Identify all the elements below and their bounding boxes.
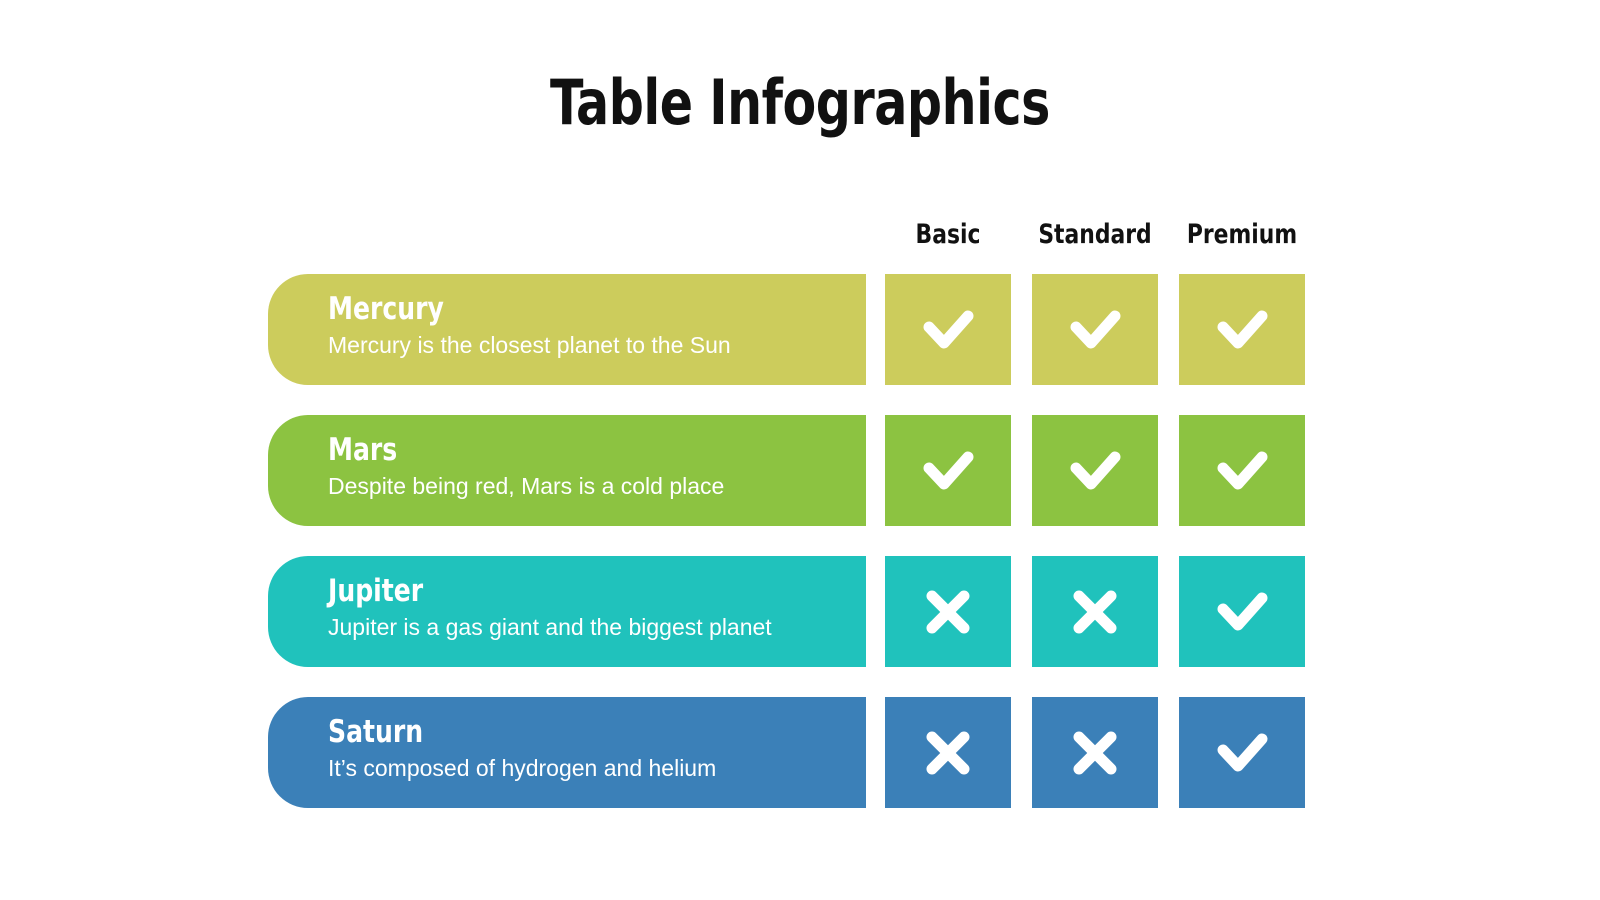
row-label-bar[interactable]: MarsDespite being red, Mars is a cold pl… bbox=[268, 415, 866, 526]
cell-premium[interactable] bbox=[1179, 415, 1305, 526]
column-header-standard: Standard bbox=[1038, 218, 1151, 252]
cell-premium[interactable] bbox=[1179, 274, 1305, 385]
cross-icon bbox=[916, 580, 980, 644]
row-label-bar[interactable]: MercuryMercury is the closest planet to … bbox=[268, 274, 866, 385]
cell-premium[interactable] bbox=[1179, 556, 1305, 667]
check-icon bbox=[1210, 580, 1274, 644]
cell-basic[interactable] bbox=[885, 274, 1011, 385]
column-header-basic: Basic bbox=[891, 218, 1004, 252]
cell-standard[interactable] bbox=[1032, 274, 1158, 385]
cell-standard[interactable] bbox=[1032, 556, 1158, 667]
table-row: MercuryMercury is the closest planet to … bbox=[268, 274, 1328, 385]
cell-standard[interactable] bbox=[1032, 697, 1158, 808]
check-icon bbox=[1210, 298, 1274, 362]
cell-basic[interactable] bbox=[885, 415, 1011, 526]
cross-icon bbox=[1063, 721, 1127, 785]
check-icon bbox=[916, 439, 980, 503]
table-rows: MercuryMercury is the closest planet to … bbox=[268, 274, 1328, 808]
check-icon bbox=[1063, 439, 1127, 503]
row-description: It’s composed of hydrogen and helium bbox=[328, 751, 866, 785]
row-description: Jupiter is a gas giant and the biggest p… bbox=[328, 610, 866, 644]
row-title: Saturn bbox=[328, 713, 812, 751]
check-icon bbox=[1210, 721, 1274, 785]
table-header-row: Basic Standard Premium bbox=[268, 218, 1328, 274]
row-title: Jupiter bbox=[328, 572, 812, 610]
cell-basic[interactable] bbox=[885, 556, 1011, 667]
cross-icon bbox=[916, 721, 980, 785]
check-icon bbox=[916, 298, 980, 362]
row-title: Mercury bbox=[328, 290, 812, 328]
row-label-bar[interactable]: JupiterJupiter is a gas giant and the bi… bbox=[268, 556, 866, 667]
cross-icon bbox=[1063, 580, 1127, 644]
infographic-page: Table Infographics Basic Standard Premiu… bbox=[0, 0, 1600, 900]
table-row: JupiterJupiter is a gas giant and the bi… bbox=[268, 556, 1328, 667]
row-label-bar[interactable]: SaturnIt’s composed of hydrogen and heli… bbox=[268, 697, 866, 808]
comparison-table: Basic Standard Premium MercuryMercury is… bbox=[268, 218, 1328, 838]
check-icon bbox=[1210, 439, 1274, 503]
row-description: Mercury is the closest planet to the Sun bbox=[328, 328, 866, 362]
cell-premium[interactable] bbox=[1179, 697, 1305, 808]
cell-standard[interactable] bbox=[1032, 415, 1158, 526]
cell-basic[interactable] bbox=[885, 697, 1011, 808]
check-icon bbox=[1063, 298, 1127, 362]
table-row: SaturnIt’s composed of hydrogen and heli… bbox=[268, 697, 1328, 808]
page-title: Table Infographics bbox=[96, 66, 1504, 140]
row-title: Mars bbox=[328, 431, 812, 469]
row-description: Despite being red, Mars is a cold place bbox=[328, 469, 866, 503]
table-row: MarsDespite being red, Mars is a cold pl… bbox=[268, 415, 1328, 526]
column-header-premium: Premium bbox=[1185, 218, 1298, 252]
